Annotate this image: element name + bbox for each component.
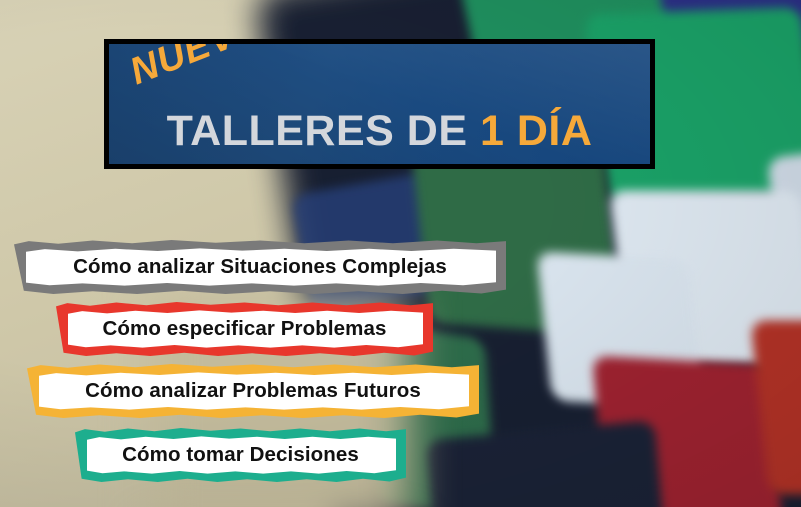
banner-headline-main: TALLERES DE — [167, 107, 480, 155]
promo-poster: NUEVOS TALLERES DE 1 DÍA Cómo analizar S… — [0, 0, 801, 507]
workshop-bar-2: Cómo especificar Problemas — [56, 302, 433, 356]
banner-headline-accent: 1 DÍA — [480, 107, 592, 155]
workshop-bar-4: Cómo tomar Decisiones — [75, 428, 406, 482]
workshop-label-2: Cómo especificar Problemas — [56, 302, 433, 356]
workshop-label-3: Cómo analizar Problemas Futuros — [27, 364, 479, 418]
workshop-bar-3: Cómo analizar Problemas Futuros — [27, 364, 479, 418]
workshop-label-4: Cómo tomar Decisiones — [75, 428, 406, 482]
workshop-label-1: Cómo analizar Situaciones Complejas — [14, 240, 506, 294]
banner-badge-nuevos: NUEVOS — [125, 39, 294, 91]
banner-headline: TALLERES DE 1 DÍA — [109, 110, 650, 153]
workshop-bar-1: Cómo analizar Situaciones Complejas — [14, 240, 506, 294]
header-banner: NUEVOS TALLERES DE 1 DÍA — [104, 39, 655, 169]
